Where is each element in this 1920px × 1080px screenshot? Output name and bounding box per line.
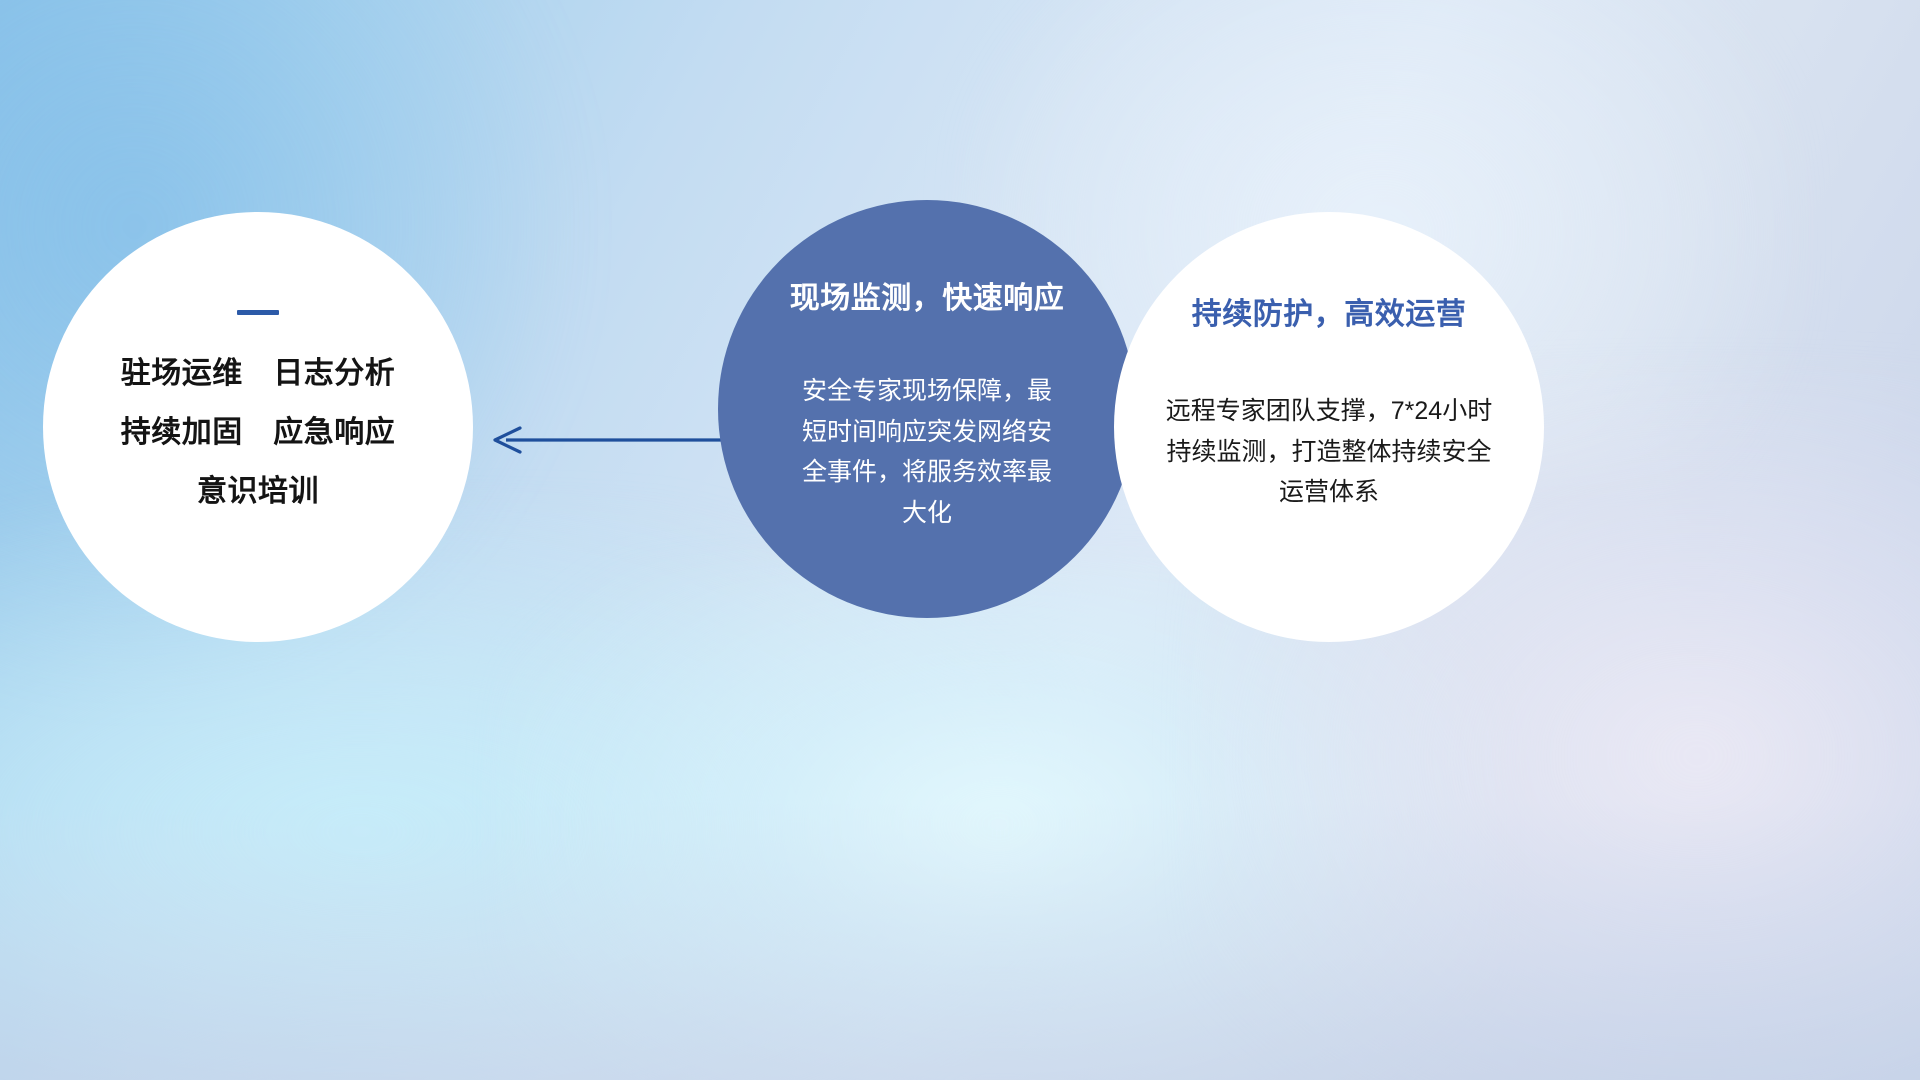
onsite-circle-body: 安全专家现场保障，最短时间响应突发网络安全事件，将服务效率最大化 xyxy=(791,371,1063,533)
remote-operations-circle[interactable]: 持续防护，高效运营 远程专家团队支撑，7*24小时持续监测，打造整体持续安全运营… xyxy=(1114,212,1544,642)
arrow-left-icon xyxy=(480,408,730,472)
flow-arrow xyxy=(480,408,730,472)
slide-canvas: 现场监测，快速响应 安全专家现场保障，最短时间响应突发网络安全事件，将服务效率最… xyxy=(0,0,1920,1080)
capabilities-circle[interactable]: 驻场运维 日志分析 持续加固 应急响应 意识培训 xyxy=(43,212,473,642)
background-haze-bottom xyxy=(0,799,1920,1080)
capability-line-3: 意识培训 xyxy=(197,477,319,507)
capability-line-2: 持续加固 应急响应 xyxy=(121,418,396,448)
accent-dash-divider xyxy=(237,310,279,315)
onsite-monitoring-circle[interactable]: 现场监测，快速响应 安全专家现场保障，最短时间响应突发网络安全事件，将服务效率最… xyxy=(718,200,1136,618)
remote-circle-title: 持续防护，高效运营 xyxy=(1192,298,1467,331)
capability-line-1: 驻场运维 日志分析 xyxy=(121,359,396,389)
remote-circle-body: 远程专家团队支撑，7*24小时持续监测，打造整体持续安全运营体系 xyxy=(1160,391,1498,513)
onsite-circle-title: 现场监测，快速响应 xyxy=(790,282,1065,315)
